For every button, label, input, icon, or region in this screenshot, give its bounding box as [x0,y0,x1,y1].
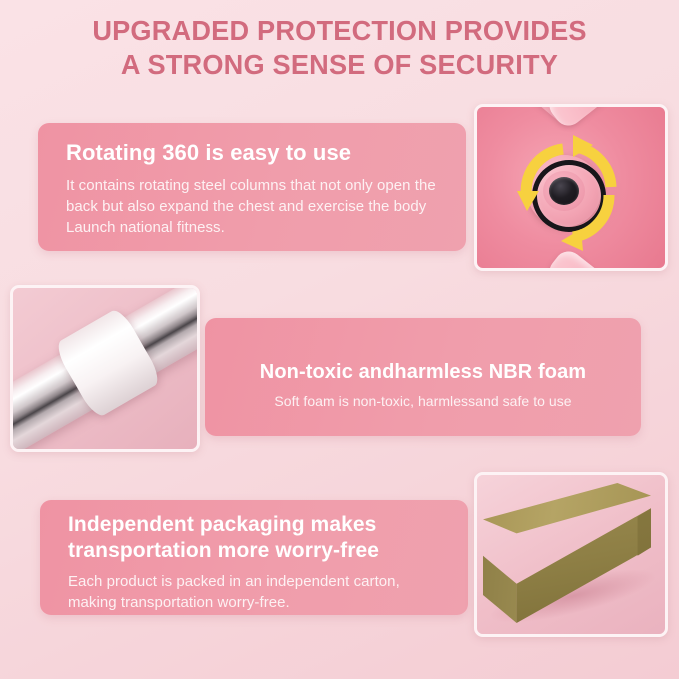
feature-title-line-2: transportation more worry-free [68,539,379,562]
rotating-hub-scene [477,107,665,268]
feature-body-independent-packaging: Each product is packed in an independent… [68,571,450,613]
feature-card-independent-packaging: Independent packaging makes transportati… [40,500,468,615]
feature-text-nbr-foam: Non-toxic andharmless NBR foam Soft foam… [205,360,641,411]
feature-title-line-1: Independent packaging makes [68,513,376,536]
feature-card-rotating-360: Rotating 360 is easy to use It contains … [38,123,466,251]
carton-box-photo [474,472,668,637]
feature-title-rotating-360: Rotating 360 is easy to use [66,140,444,166]
feature-body-rotating-360: It contains rotating steel columns that … [66,175,444,238]
infographic-page: UPGRADED PROTECTION PROVIDES A STRONG SE… [0,0,679,679]
rotation-arrows-icon [505,129,629,253]
chrome-bar-foam-photo [10,285,200,452]
page-title-line-2: A STRONG SENSE OF SECURITY [10,48,669,82]
page-title: UPGRADED PROTECTION PROVIDES A STRONG SE… [10,14,669,82]
column-upper-right [544,104,661,131]
carton-box-scene [477,475,665,634]
feature-title-nbr-foam: Non-toxic andharmless NBR foam [205,360,641,384]
chrome-bar-scene [13,288,197,449]
rotating-hub-photo [474,104,668,271]
feature-card-nbr-foam: Non-toxic andharmless NBR foam Soft foam… [205,318,641,436]
page-title-line-1: UPGRADED PROTECTION PROVIDES [10,14,669,48]
feature-body-nbr-foam: Soft foam is non-toxic, harmlessand safe… [205,392,641,411]
feature-title-independent-packaging: Independent packaging makes transportati… [68,512,450,564]
